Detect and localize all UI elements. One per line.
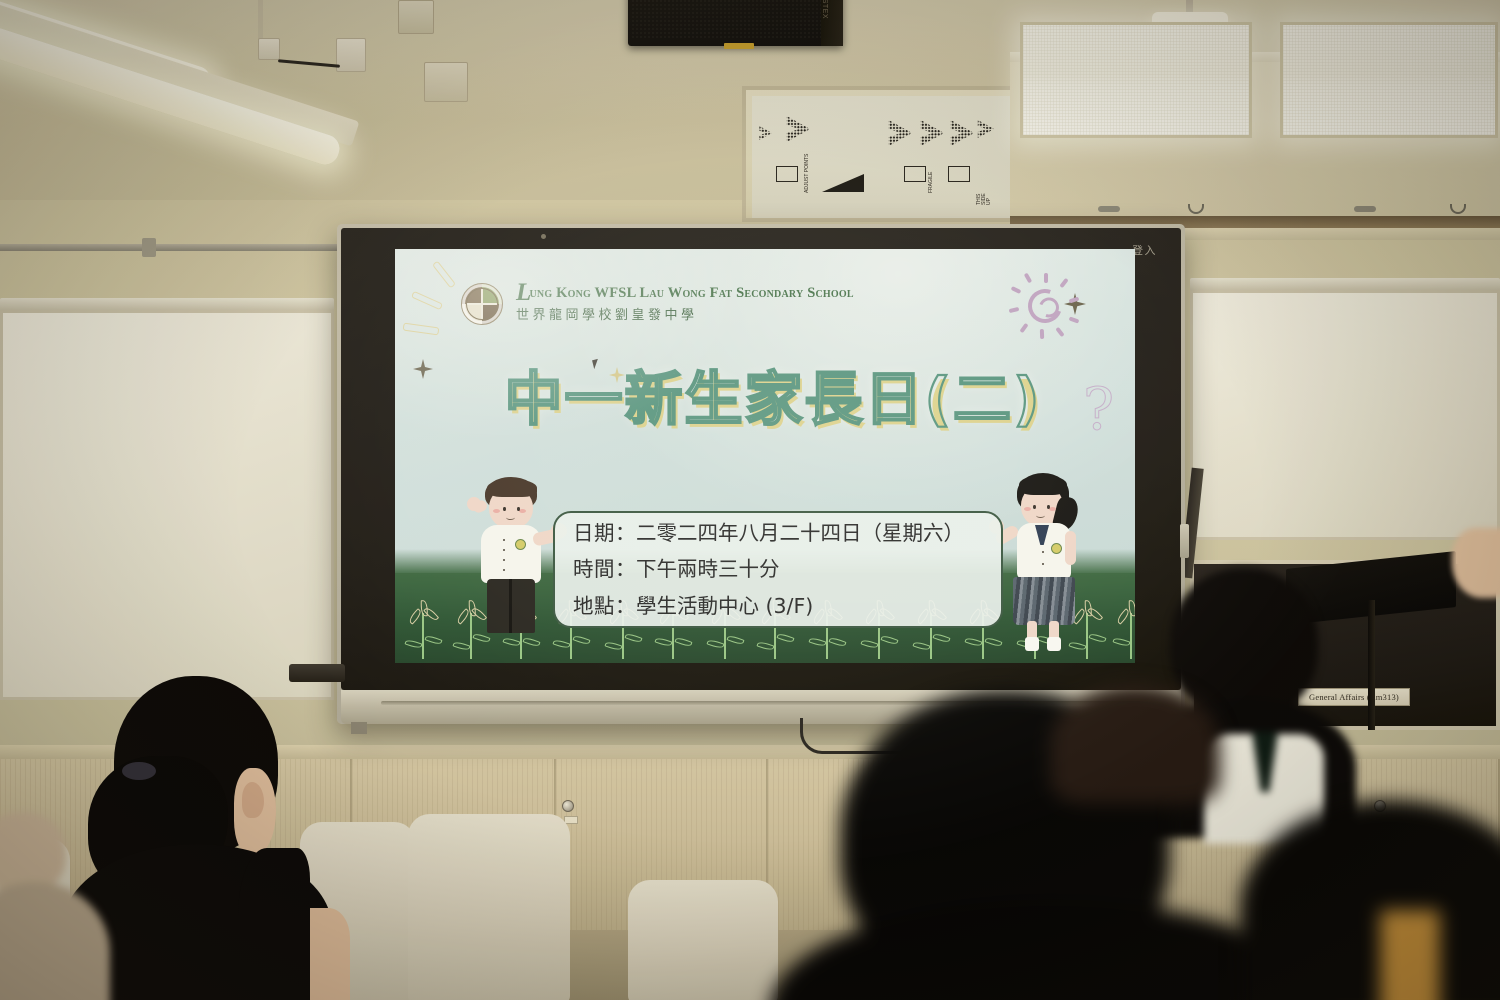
wall-pipe (0, 244, 345, 251)
ceiling-speaker: FOSTEX (628, 0, 843, 46)
cabinet-lock-1[interactable] (562, 800, 574, 812)
classroom-scene: FOSTEX ADJUST POINTS THIS SIDE UP FRAGIL… (0, 0, 1500, 1000)
held-object (1380, 910, 1440, 1000)
event-info-card: 日期：二零二四年八月二十四日（星期六） 時間：下午兩時三十分 地點：學生活動中心… (553, 511, 1003, 628)
school-name-english: Lung Kong WFSL Lau Wong Fat Secondary Sc… (516, 285, 854, 302)
wall-box-1 (424, 62, 468, 102)
striped-skirt (1013, 577, 1075, 625)
whiteboard-right (1190, 290, 1500, 540)
info-value-time: 下午兩時三十分 (636, 557, 780, 581)
info-value-venue: 學生活動中心 (3/F) (636, 594, 813, 618)
cardboard-text-3: FRAGILE (929, 172, 934, 193)
slide-title: 中一新生家長日(二) (453, 370, 1093, 428)
ear (242, 782, 264, 818)
window-pane-2 (1280, 22, 1498, 138)
wall-box-2 (398, 0, 434, 34)
display-ir-sensor (1180, 524, 1189, 558)
info-label-time: 時間： (573, 557, 636, 581)
cardboard-text-1: ADJUST POINTS (805, 154, 810, 193)
cardboard-text-2: THIS SIDE UP (977, 187, 992, 205)
presentation-slide: Lung Kong WFSL Lau Wong Fat Secondary Sc… (395, 249, 1135, 663)
school-name-chinese: 世界龍岡學校劉皇發中學 (516, 304, 854, 323)
speaker-grille (631, 0, 821, 38)
sleeveless-top (238, 848, 310, 1000)
whiteboard-left (0, 310, 334, 700)
boy-student-illustration (467, 473, 559, 649)
window-latch-1 (1098, 206, 1120, 212)
sun-icon (1014, 275, 1080, 337)
display-camera-led (541, 234, 546, 239)
slide-header: Lung Kong WFSL Lau Wong Fat Secondary Sc… (461, 283, 854, 325)
info-label-date: 日期： (573, 521, 636, 545)
hair-tie (122, 762, 156, 780)
junction-box-1 (258, 38, 280, 60)
chair-3[interactable] (628, 880, 778, 1000)
audience-person-far-left (0, 812, 100, 1000)
light-hanger-rod-1 (258, 0, 263, 40)
school-crest-icon (461, 283, 503, 325)
audience-person-right-front (800, 650, 1280, 1000)
cardboard-panel: ADJUST POINTS THIS SIDE UP FRAGILE (752, 96, 1010, 218)
swash-l: L (516, 279, 531, 306)
info-label-venue: 地點： (573, 594, 636, 618)
girl-student-illustration (991, 471, 1089, 653)
window-latch-2 (1354, 206, 1376, 212)
pipe-clip (142, 238, 156, 257)
interactive-smart-display[interactable]: 登入 Lung Kong WFSL Lau Wong Fa (337, 224, 1185, 724)
info-row-venue: 地點：學生活動中心 (3/F) (573, 595, 983, 617)
junction-box-2 (336, 38, 366, 72)
info-value-date: 二零二四年八月二十四日（星期六） (636, 521, 964, 545)
info-row-time: 時間：下午兩時三十分 (573, 558, 983, 580)
slide-canvas[interactable]: Lung Kong WFSL Lau Wong Fat Secondary Sc… (395, 249, 1135, 663)
audience-person-far-right (1240, 760, 1500, 1000)
window-pane-1 (1020, 22, 1252, 138)
login-button[interactable]: 登入 (1132, 242, 1157, 258)
chair-2[interactable] (408, 814, 570, 1000)
info-row-date: 日期：二零二四年八月二十四日（星期六） (573, 522, 983, 544)
display-bezel: 登入 Lung Kong WFSL Lau Wong Fa (341, 228, 1181, 690)
